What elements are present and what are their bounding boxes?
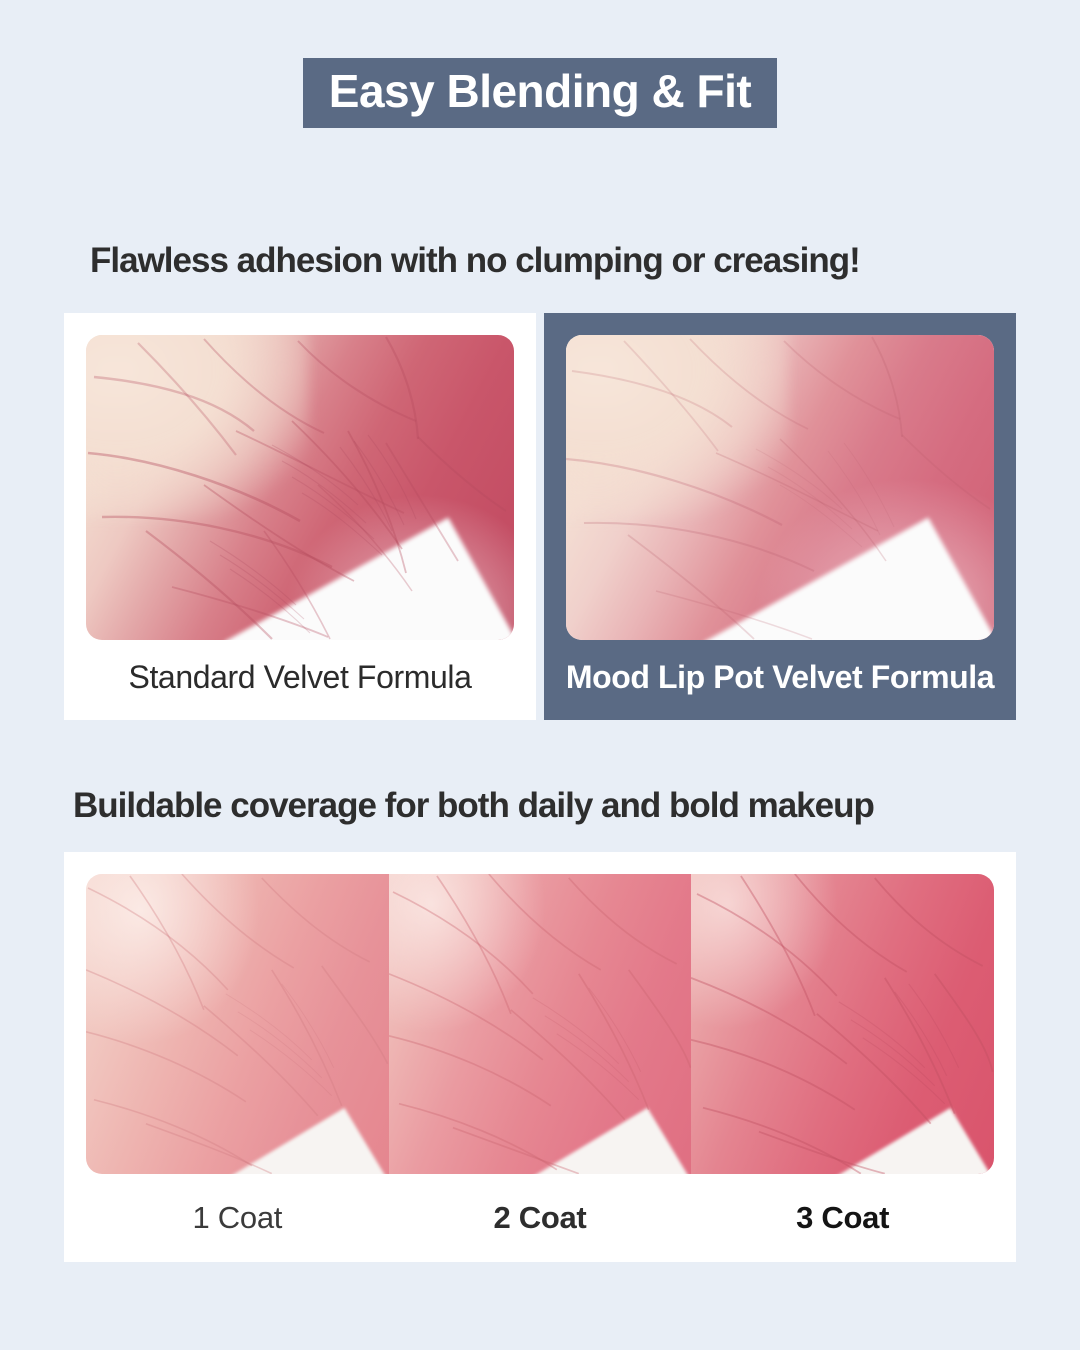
- adhesion-section-heading: Flawless adhesion with no clumping or cr…: [90, 241, 860, 281]
- palm-crease-lines: [86, 335, 514, 640]
- coat-2-label: 2 Coat: [389, 1200, 692, 1236]
- standard-formula-label: Standard Velvet Formula: [129, 659, 472, 696]
- coat-3-swatch[interactable]: [691, 874, 994, 1174]
- buildable-coverage-card: 1 Coat 2 Coat 3 Coat: [64, 852, 1016, 1262]
- coat-1-label: 1 Coat: [86, 1200, 389, 1236]
- palm-crease-lines: [691, 874, 994, 1174]
- standard-formula-card[interactable]: Standard Velvet Formula: [64, 313, 536, 720]
- page-title-banner: Easy Blending & Fit: [303, 58, 777, 128]
- palm-crease-lines: [389, 874, 692, 1174]
- coat-swatch-strip: [86, 874, 994, 1174]
- header-banner-row: Easy Blending & Fit: [0, 0, 1080, 128]
- coat-1-swatch[interactable]: [86, 874, 389, 1174]
- mood-lip-pot-palm-swatch: [566, 335, 994, 640]
- standard-velvet-palm-swatch: [86, 335, 514, 640]
- mood-lip-pot-formula-label: Mood Lip Pot Velvet Formula: [566, 659, 994, 696]
- coat-labels-row: 1 Coat 2 Coat 3 Coat: [86, 1174, 994, 1262]
- palm-crease-lines: [86, 874, 389, 1174]
- formula-comparison-row: Standard Velvet Formula: [64, 313, 1016, 720]
- palm-crease-lines: [566, 335, 994, 640]
- coat-3-label: 3 Coat: [691, 1200, 994, 1236]
- coverage-section-heading: Buildable coverage for both daily and bo…: [73, 786, 874, 826]
- mood-lip-pot-formula-card[interactable]: Mood Lip Pot Velvet Formula: [544, 313, 1016, 720]
- coat-2-swatch[interactable]: [389, 874, 692, 1174]
